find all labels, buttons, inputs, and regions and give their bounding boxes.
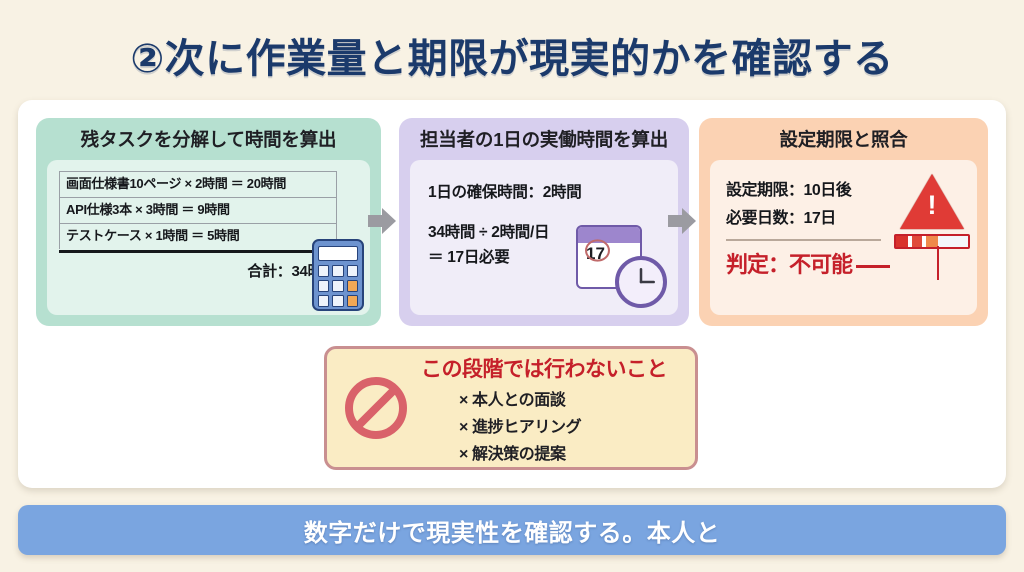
prohibition-slash xyxy=(353,385,400,432)
total-rule xyxy=(59,250,337,253)
warning-indicator-group: ! xyxy=(893,174,971,249)
task-total: 合計：34時間 xyxy=(59,260,337,281)
do-not-title: この段階では行わないこと xyxy=(421,353,667,383)
task-row-list: 画面仕様書10ページ × 2時間 ＝ 20時間 API仕様3本 × 3時間 ＝ … xyxy=(59,171,337,253)
panel-2-title: 担当者の1日の実働時間を算出 xyxy=(410,128,678,151)
prohibition-icon xyxy=(345,377,407,439)
calculator-key xyxy=(347,265,358,277)
arrow-head xyxy=(382,208,396,234)
divider xyxy=(726,239,881,241)
calendar-clock-icon: 17 xyxy=(572,217,668,309)
page-title: ②次に作業量と期限が現実的かを確認する xyxy=(0,26,1024,84)
verdict-line xyxy=(937,246,940,280)
do-not-item: × 進捗ヒアリング xyxy=(421,413,667,437)
banner-text: 数字だけで現実性を確認する。本人と xyxy=(304,513,721,548)
calculator-icon xyxy=(312,239,364,311)
arrow-shaft xyxy=(668,215,683,227)
bottom-banner: 数字だけで現実性を確認する。本人と xyxy=(18,505,1006,555)
calendar-day-circle xyxy=(584,237,611,264)
calculator-screen xyxy=(318,246,358,261)
content-card: 残タスクを分解して時間を算出 画面仕様書10ページ × 2時間 ＝ 20時間 A… xyxy=(18,100,1006,488)
calculator-key xyxy=(332,265,343,277)
task-row: テストケース × 1時間 ＝ 5時間 xyxy=(59,223,337,249)
panel-1-body: 画面仕様書10ページ × 2時間 ＝ 20時間 API仕様3本 × 3時間 ＝ … xyxy=(47,160,370,315)
panel-1-title: 残タスクを分解して時間を算出 xyxy=(47,128,370,151)
calculator-key xyxy=(332,280,343,292)
progress-segment xyxy=(896,236,908,247)
do-not-item: × 解決策の提案 xyxy=(421,440,667,464)
exclamation-glyph: ! xyxy=(927,192,937,219)
calculator-key xyxy=(332,295,343,307)
panel-2-body: 1日の確保時間：2時間 34時間 ÷ 2時間/日 ＝ 17日必要 17 xyxy=(410,160,678,315)
calculator-keys xyxy=(318,265,358,307)
panel-deadline-comparison: 設定期限と照合 設定期限：10日後 必要日数：17日 判定：不可能 ! xyxy=(699,118,988,326)
verdict-text: 判定：不可能 xyxy=(726,252,852,277)
do-not-item: × 本人との面談 xyxy=(421,386,667,410)
task-row: 画面仕様書10ページ × 2時間 ＝ 20時間 xyxy=(59,171,337,197)
panels-row: 残タスクを分解して時間を算出 画面仕様書10ページ × 2時間 ＝ 20時間 A… xyxy=(36,118,988,336)
calculator-key xyxy=(318,280,329,292)
progress-bar xyxy=(894,234,970,249)
arrow-right-icon xyxy=(368,208,396,234)
progress-segment xyxy=(912,236,922,247)
calculator-key xyxy=(318,295,329,307)
calculator-key-accent xyxy=(347,295,358,307)
task-row: API仕様3本 × 3時間 ＝ 9時間 xyxy=(59,197,337,223)
arrow-shaft xyxy=(368,215,383,227)
warning-triangle-icon: ! xyxy=(900,174,964,229)
verdict-label: 判定：不可能 xyxy=(726,247,977,279)
arrow-right-icon xyxy=(668,208,696,234)
daily-hours-line: 1日の確保時間：2時間 xyxy=(428,180,678,202)
clock-icon xyxy=(615,256,667,308)
arrow-head xyxy=(682,208,696,234)
clock-hands xyxy=(619,260,663,304)
calculator-key-accent xyxy=(347,280,358,292)
do-not-texts: この段階では行わないこと × 本人との面談 × 進捗ヒアリング × 解決策の提案 xyxy=(421,353,667,464)
panel-remaining-task-breakdown: 残タスクを分解して時間を算出 画面仕様書10ページ × 2時間 ＝ 20時間 A… xyxy=(36,118,381,326)
panel-3-body: 設定期限：10日後 必要日数：17日 判定：不可能 ! xyxy=(710,160,977,315)
slide-canvas: ②次に作業量と期限が現実的かを確認する 残タスクを分解して時間を算出 画面仕様書… xyxy=(0,0,1024,572)
calculator-key xyxy=(318,265,329,277)
panel-daily-working-hours: 担当者の1日の実働時間を算出 1日の確保時間：2時間 34時間 ÷ 2時間/日 … xyxy=(399,118,689,326)
progress-segment xyxy=(938,236,968,247)
do-not-box: この段階では行わないこと × 本人との面談 × 進捗ヒアリング × 解決策の提案 xyxy=(324,346,698,470)
panel-3-title: 設定期限と照合 xyxy=(710,128,977,151)
verdict-connector xyxy=(856,265,890,268)
